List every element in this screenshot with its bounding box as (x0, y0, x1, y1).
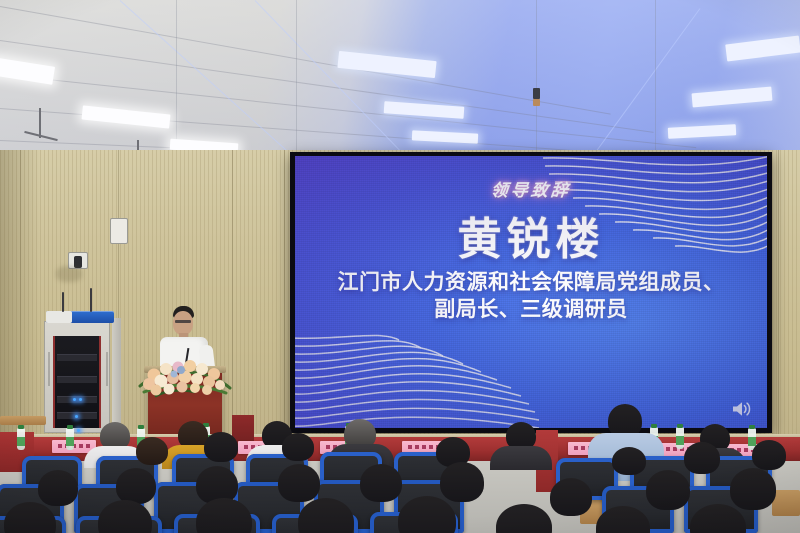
slide-speaker-name: 黄锐楼 (458, 217, 605, 263)
ceiling-camera-mount (533, 99, 540, 106)
audience-head (204, 432, 238, 462)
floral-arrangement (138, 356, 232, 396)
led-display-screen[interactable]: 领导致辞 黄锐楼 江门市人力资源和社会保障局党组成员、 副局长、三级调研员 (290, 152, 772, 433)
slide-text-block: 领导致辞 黄锐楼 江门市人力资源和社会保障局党组成员、 副局长、三级调研员 (295, 156, 767, 428)
auditorium-photo-scene: 领导致辞 黄锐楼 江门市人力资源和社会保障局党组成员、 副局长、三级调研员 (0, 0, 800, 533)
rack-status-led (77, 429, 80, 432)
volume-speaker-icon[interactable] (731, 400, 753, 418)
audience-head (278, 464, 320, 502)
audience-head (684, 442, 720, 474)
router-antenna (90, 288, 92, 312)
slide-surface: 领导致辞 黄锐楼 江门市人力资源和社会保障局党组成员、 副局长、三级调研员 (295, 156, 767, 428)
audience-head (282, 433, 314, 461)
rack-side-column (112, 318, 121, 434)
water-bottle (17, 428, 25, 450)
speaker-glasses-icon (175, 320, 191, 323)
ceiling-camera-icon (533, 88, 540, 99)
audience-head (440, 462, 484, 502)
router-antenna (62, 292, 64, 312)
side-desk (772, 490, 800, 516)
slide-role-line-2: 副局长、三级调研员 (434, 296, 628, 323)
rack-top-device (46, 311, 72, 323)
audience-head (646, 470, 690, 510)
audience-head (612, 447, 646, 475)
ceiling-hanger (39, 108, 41, 138)
rack-status-led (79, 398, 82, 401)
rack-status-led (75, 415, 78, 418)
wall-mounted-panel (110, 218, 128, 244)
rack-status-led (73, 398, 76, 401)
audience-shoulders (490, 446, 552, 470)
ceiling (0, 0, 800, 162)
av-equipment-rack (44, 321, 110, 433)
side-desk (0, 416, 46, 425)
speaker-head (173, 311, 193, 335)
rack-interior (53, 336, 101, 428)
slide-kicker: 领导致辞 (490, 176, 573, 201)
audience-head (38, 470, 78, 506)
audience-head (136, 437, 168, 465)
audience-head (730, 468, 776, 510)
audience-head (360, 464, 402, 502)
slide-role-line-1: 江门市人力资源和社会保障局党组成员、 (338, 269, 725, 296)
audience-head (116, 468, 156, 504)
water-bottle (676, 427, 684, 449)
audience-head (752, 440, 786, 470)
wall-device-shadow (56, 266, 82, 282)
audience-head (550, 478, 592, 516)
water-bottle (66, 428, 74, 450)
